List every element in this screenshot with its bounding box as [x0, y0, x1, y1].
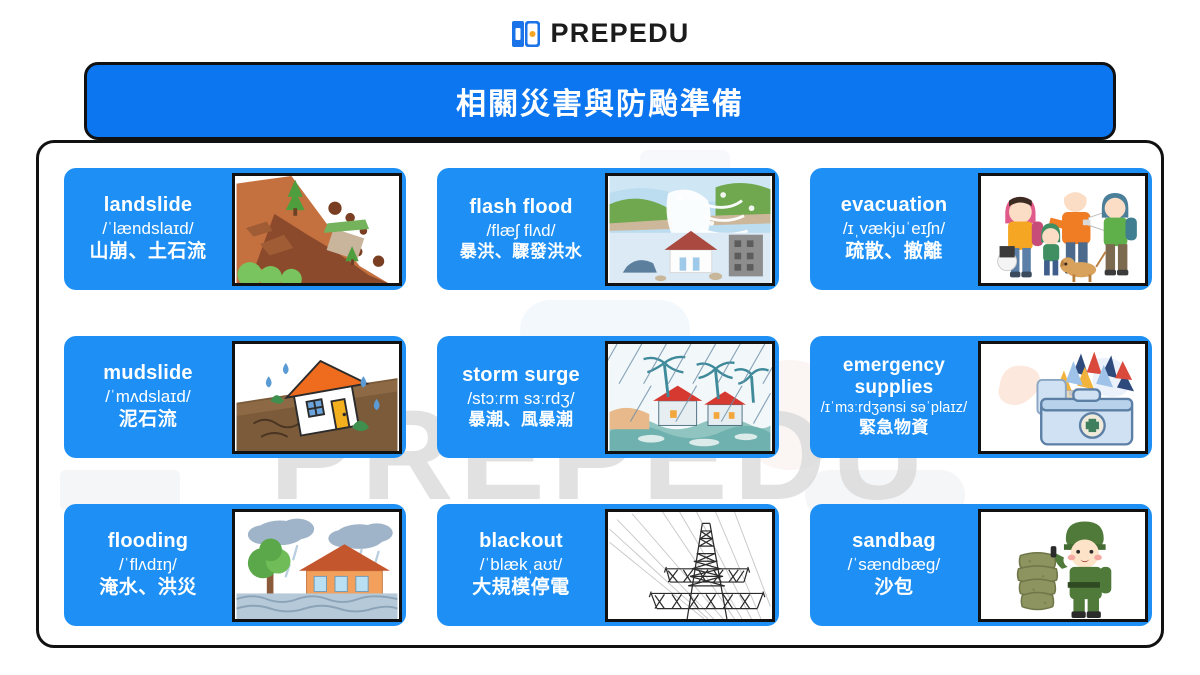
card-text: flooding /ˈflʌdɪŋ/ 淹水、洪災: [64, 530, 230, 599]
vocab-ipa: /ˈmʌdslaɪd/: [72, 387, 224, 407]
vocab-translation: 淹水、洪災: [72, 577, 224, 600]
prepedu-logo-icon: [511, 19, 541, 49]
vocab-card-evacuation[interactable]: evacuation /ɪˌvækjuˈeɪʃn/ 疏散、撤離: [810, 168, 1152, 290]
vocab-word: flooding: [72, 530, 224, 553]
vocab-translation: 暴洪、驟發洪水: [445, 242, 597, 262]
vocab-ipa: /flæʃ flʌd/: [445, 221, 597, 241]
vocab-translation: 泥石流: [72, 409, 224, 432]
vocab-card-landslide[interactable]: landslide /ˈlændslaɪd/ 山崩、土石流: [64, 168, 406, 290]
landslide-illustration: [232, 173, 402, 286]
vocab-word: blackout: [445, 530, 597, 553]
card-text: storm surge /stɔːrm sɜːrdʒ/ 暴潮、風暴潮: [437, 364, 603, 431]
header-banner: 相關災害與防颱準備: [84, 62, 1116, 140]
vocab-translation: 緊急物資: [818, 418, 970, 438]
vocab-card-mudslide[interactable]: mudslide /ˈmʌdslaɪd/ 泥石流: [64, 336, 406, 458]
vocab-card-sandbag[interactable]: sandbag /ˈsændbæg/ 沙包: [810, 504, 1152, 626]
card-text: flash flood /flæʃ flʌd/ 暴洪、驟發洪水: [437, 196, 603, 263]
vocab-translation: 沙包: [818, 577, 970, 600]
card-text: mudslide /ˈmʌdslaɪd/ 泥石流: [64, 362, 230, 431]
vocabulary-grid: landslide /ˈlændslaɪd/ 山崩、土石流: [64, 168, 1140, 626]
vocab-translation: 大規模停電: [445, 577, 597, 600]
vocab-word: storm surge: [445, 364, 597, 387]
vocab-ipa: /ɪˌvækjuˈeɪʃn/: [818, 219, 970, 239]
vocab-card-flash-flood[interactable]: flash flood /flæʃ flʌd/ 暴洪、驟發洪水: [437, 168, 779, 290]
card-text: landslide /ˈlændslaɪd/ 山崩、土石流: [64, 194, 230, 263]
vocab-translation: 疏散、撤離: [818, 241, 970, 264]
flash-flood-illustration: [605, 173, 775, 286]
vocab-ipa: /ˈsændbæg/: [818, 555, 970, 575]
vocab-word: emergency supplies: [818, 355, 970, 398]
brand-name: PREPEDU: [551, 18, 690, 49]
vocab-ipa: /ˈlændslaɪd/: [72, 219, 224, 239]
vocab-word: flash flood: [445, 196, 597, 219]
card-text: blackout /ˈblækˌaʊt/ 大規模停電: [437, 530, 603, 599]
vocab-ipa: /ɪˈmɜːrdʒənsi səˈplaɪz/: [818, 400, 970, 416]
vocab-word: landslide: [72, 194, 224, 217]
vocab-card-blackout[interactable]: blackout /ˈblækˌaʊt/ 大規模停電: [437, 504, 779, 626]
card-text: sandbag /ˈsændbæg/ 沙包: [810, 530, 976, 599]
evacuation-illustration: [978, 173, 1148, 286]
vocab-word: evacuation: [818, 194, 970, 217]
vocab-translation: 暴潮、風暴潮: [445, 410, 597, 430]
flooding-illustration: [232, 509, 402, 622]
page-title: 相關災害與防颱準備: [456, 79, 744, 123]
emergency-supplies-illustration: [978, 341, 1148, 454]
vocab-ipa: /ˈflʌdɪŋ/: [72, 555, 224, 575]
vocab-ipa: /ˈblækˌaʊt/: [445, 555, 597, 575]
vocab-word: mudslide: [72, 362, 224, 385]
vocab-card-flooding[interactable]: flooding /ˈflʌdɪŋ/ 淹水、洪災: [64, 504, 406, 626]
vocab-word: sandbag: [818, 530, 970, 553]
mudslide-illustration: [232, 341, 402, 454]
vocab-card-storm-surge[interactable]: storm surge /stɔːrm sɜːrdʒ/ 暴潮、風暴潮: [437, 336, 779, 458]
vocab-translation: 山崩、土石流: [72, 241, 224, 264]
brand-header: PREPEDU: [0, 18, 1200, 49]
vocab-ipa: /stɔːrm sɜːrdʒ/: [445, 389, 597, 409]
card-text: evacuation /ɪˌvækjuˈeɪʃn/ 疏散、撤離: [810, 194, 976, 263]
blackout-illustration: [605, 509, 775, 622]
vocab-card-emergency-supplies[interactable]: emergency supplies /ɪˈmɜːrdʒənsi səˈplaɪ…: [810, 336, 1152, 458]
vocabulary-infographic: PREPEDU PREPEDU 相關災害與防颱準備 landslide /ˈlæ…: [0, 0, 1200, 675]
card-text: emergency supplies /ɪˈmɜːrdʒənsi səˈplaɪ…: [810, 355, 976, 438]
sandbag-illustration: [978, 509, 1148, 622]
storm-surge-illustration: [605, 341, 775, 454]
